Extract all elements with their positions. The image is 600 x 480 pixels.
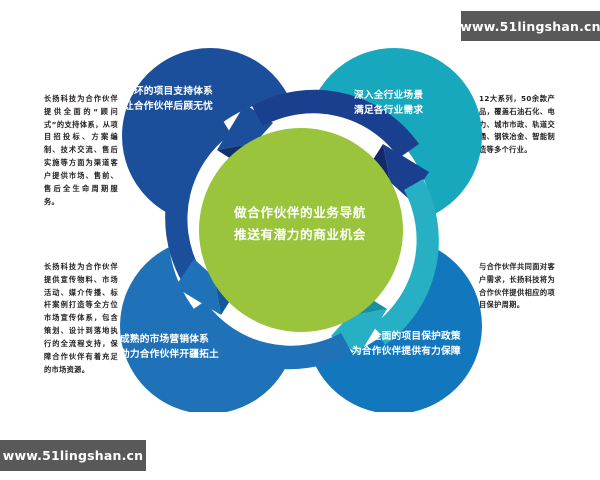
lobe-top-right-line2: 满足各行业需求	[354, 103, 423, 118]
center-circle-label: 做合作伙伴的业务导航 推送有潜力的商业机会	[188, 202, 412, 245]
watermark-bottom-left: www.51lingshan.cn	[0, 440, 146, 471]
side-note-right-top: 12大系列，50余款产品，覆盖石油石化、电力、城市市政、轨道交通、钢铁冶金、智能…	[479, 93, 555, 157]
center-line2: 推送有潜力的商业机会	[188, 224, 412, 246]
lobe-bottom-left-label: 成熟的市场营销体系 助力合作伙伴开疆拓土	[120, 332, 219, 362]
lobe-top-right-label: 深入全行业场景 满足各行业需求	[354, 88, 423, 118]
lobe-top-left-label: 闭环的项目支持体系 让合作伙伴后顾无忧	[124, 84, 213, 114]
side-note-left-bottom: 长扬科技为合作伙伴提供宣传物料、市场活动、媒介传播、标杆案例打造等全方位市场宣传…	[44, 261, 118, 376]
lobe-bottom-right-line1: 全面的项目保护政策	[352, 329, 461, 344]
center-line1: 做合作伙伴的业务导航	[188, 202, 412, 224]
side-note-right-bottom: 与合作伙伴共同面对客户需求，长扬科技将为合作伙伴提供相应的项目保护周期。	[479, 261, 555, 312]
lobe-bottom-right-label: 全面的项目保护政策 为合作伙伴提供有力保障	[352, 329, 461, 359]
cycle-diagram: 闭环的项目支持体系 让合作伙伴后顾无忧 深入全行业场景 满足各行业需求 成熟的市…	[118, 48, 482, 412]
side-note-left-top: 长扬科技为合作伙伴提供全面的“顾问式”的支持体系，从项目招投标、方案编制、技术交…	[44, 93, 118, 208]
lobe-bottom-right-line2: 为合作伙伴提供有力保障	[352, 344, 461, 359]
lobe-top-right-line1: 深入全行业场景	[354, 88, 423, 103]
lobe-top-left-line1: 闭环的项目支持体系	[124, 84, 213, 99]
lobe-bottom-left-line2: 助力合作伙伴开疆拓土	[120, 347, 219, 362]
watermark-top-right: www.51lingshan.cn	[461, 11, 600, 41]
lobe-bottom-left-line1: 成熟的市场营销体系	[120, 332, 219, 347]
lobe-top-left-line2: 让合作伙伴后顾无忧	[124, 99, 213, 114]
infographic-canvas: 长扬科技为合作伙伴提供全面的“顾问式”的支持体系，从项目招投标、方案编制、技术交…	[0, 0, 600, 480]
